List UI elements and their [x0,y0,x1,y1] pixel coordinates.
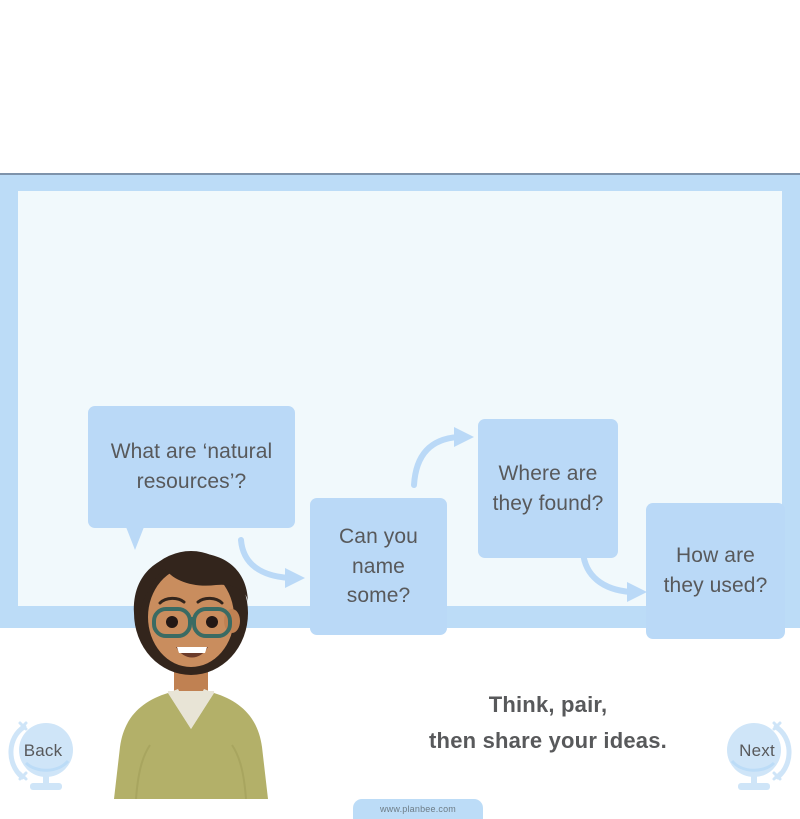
prompt-line-1: Think, pair, [348,687,748,723]
speech-bubble-tail [126,527,144,550]
question-bubble-where: Where are they found? [478,419,618,558]
back-button[interactable]: Back [2,715,84,797]
question-bubble-how-text: How are they used? [656,541,775,601]
slide-canvas: What are ‘natural resources’? Can you na… [18,191,782,606]
question-bubble-what: What are ‘natural resources’? [88,406,295,528]
question-bubble-what-text: What are ‘natural resources’? [98,437,285,497]
footer-watermark-text: www.planbee.com [380,804,456,814]
slide-frame: What are ‘natural resources’? Can you na… [0,173,800,628]
globe-icon [716,715,798,797]
prompt-text: Think, pair, then share your ideas. [348,687,748,758]
arrow-name-to-where-icon [410,427,482,489]
question-bubble-name: Can you name some? [310,498,447,635]
question-bubble-where-text: Where are they found? [488,459,608,519]
next-button[interactable]: Next [716,715,798,797]
teacher-illustration [98,551,283,799]
arrow-where-to-how-icon [575,548,655,606]
globe-icon [2,715,84,797]
footer-watermark: www.planbee.com [353,799,483,819]
question-bubble-name-text: Can you name some? [320,522,437,611]
prompt-line-2: then share your ideas. [348,723,748,759]
question-bubble-how: How are they used? [646,503,785,639]
